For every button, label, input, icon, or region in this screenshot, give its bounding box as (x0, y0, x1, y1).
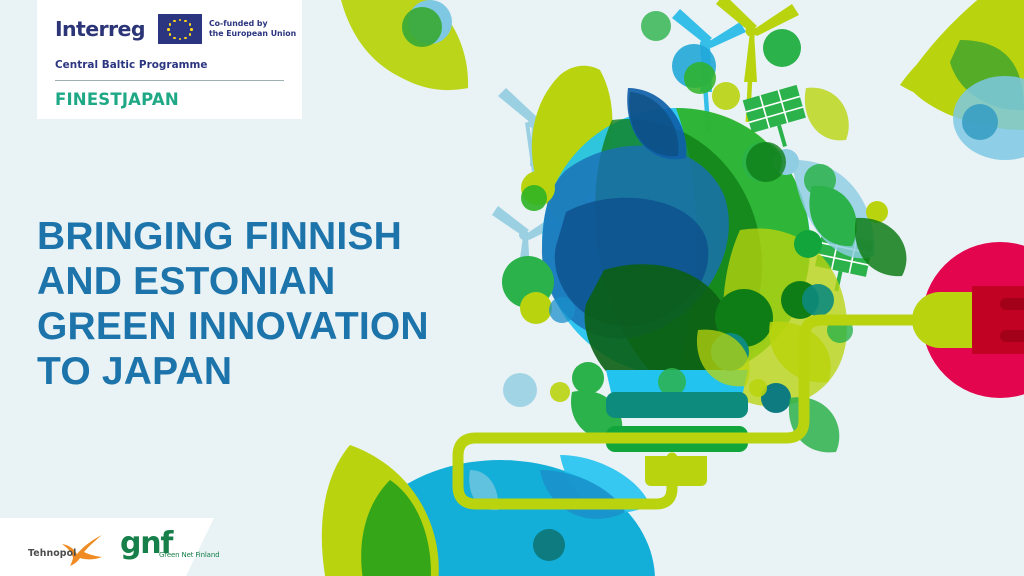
interreg-logo-row: Interreg Co-funded by (55, 12, 286, 46)
tehnopol-wordmark: Tehnopol (28, 548, 76, 559)
plug-pin-bottom (1000, 330, 1024, 342)
plug-head (972, 286, 1024, 354)
bulb-base-ring-teal (606, 392, 748, 418)
plug-pin-top (1000, 298, 1024, 310)
eu-funding-line-2: the European Union (209, 29, 296, 39)
circle-blue-top-right (962, 104, 998, 140)
interreg-wordmark: Interreg (55, 19, 145, 40)
slide-root: Interreg Co-funded by (0, 0, 1024, 576)
programme-name: Central Baltic Programme (55, 59, 286, 71)
eu-funding-line-1: Co-funded by (209, 19, 296, 29)
project-name: FINESTJAPAN (55, 90, 286, 109)
eu-flag-icon (158, 14, 202, 44)
gnf-tagline: Green Net Finland (159, 551, 219, 559)
partner-logo-bar: Tehnopol gnf Green Net Finland (0, 520, 242, 576)
partner-logos: Tehnopol gnf Green Net Finland (28, 531, 212, 567)
page-title: BRINGING FINNISH AND ESTONIAN GREEN INNO… (37, 214, 429, 394)
eu-funding-block: Co-funded by the European Union (158, 14, 296, 44)
eu-funding-text: Co-funded by the European Union (209, 19, 296, 39)
logo-card-divider (55, 80, 284, 81)
circle-green-top (402, 7, 442, 47)
tehnopol-logo: Tehnopol (28, 533, 106, 567)
interreg-logo-card: Interreg Co-funded by (37, 0, 302, 119)
gnf-logo: gnf Green Net Finland (120, 531, 212, 567)
